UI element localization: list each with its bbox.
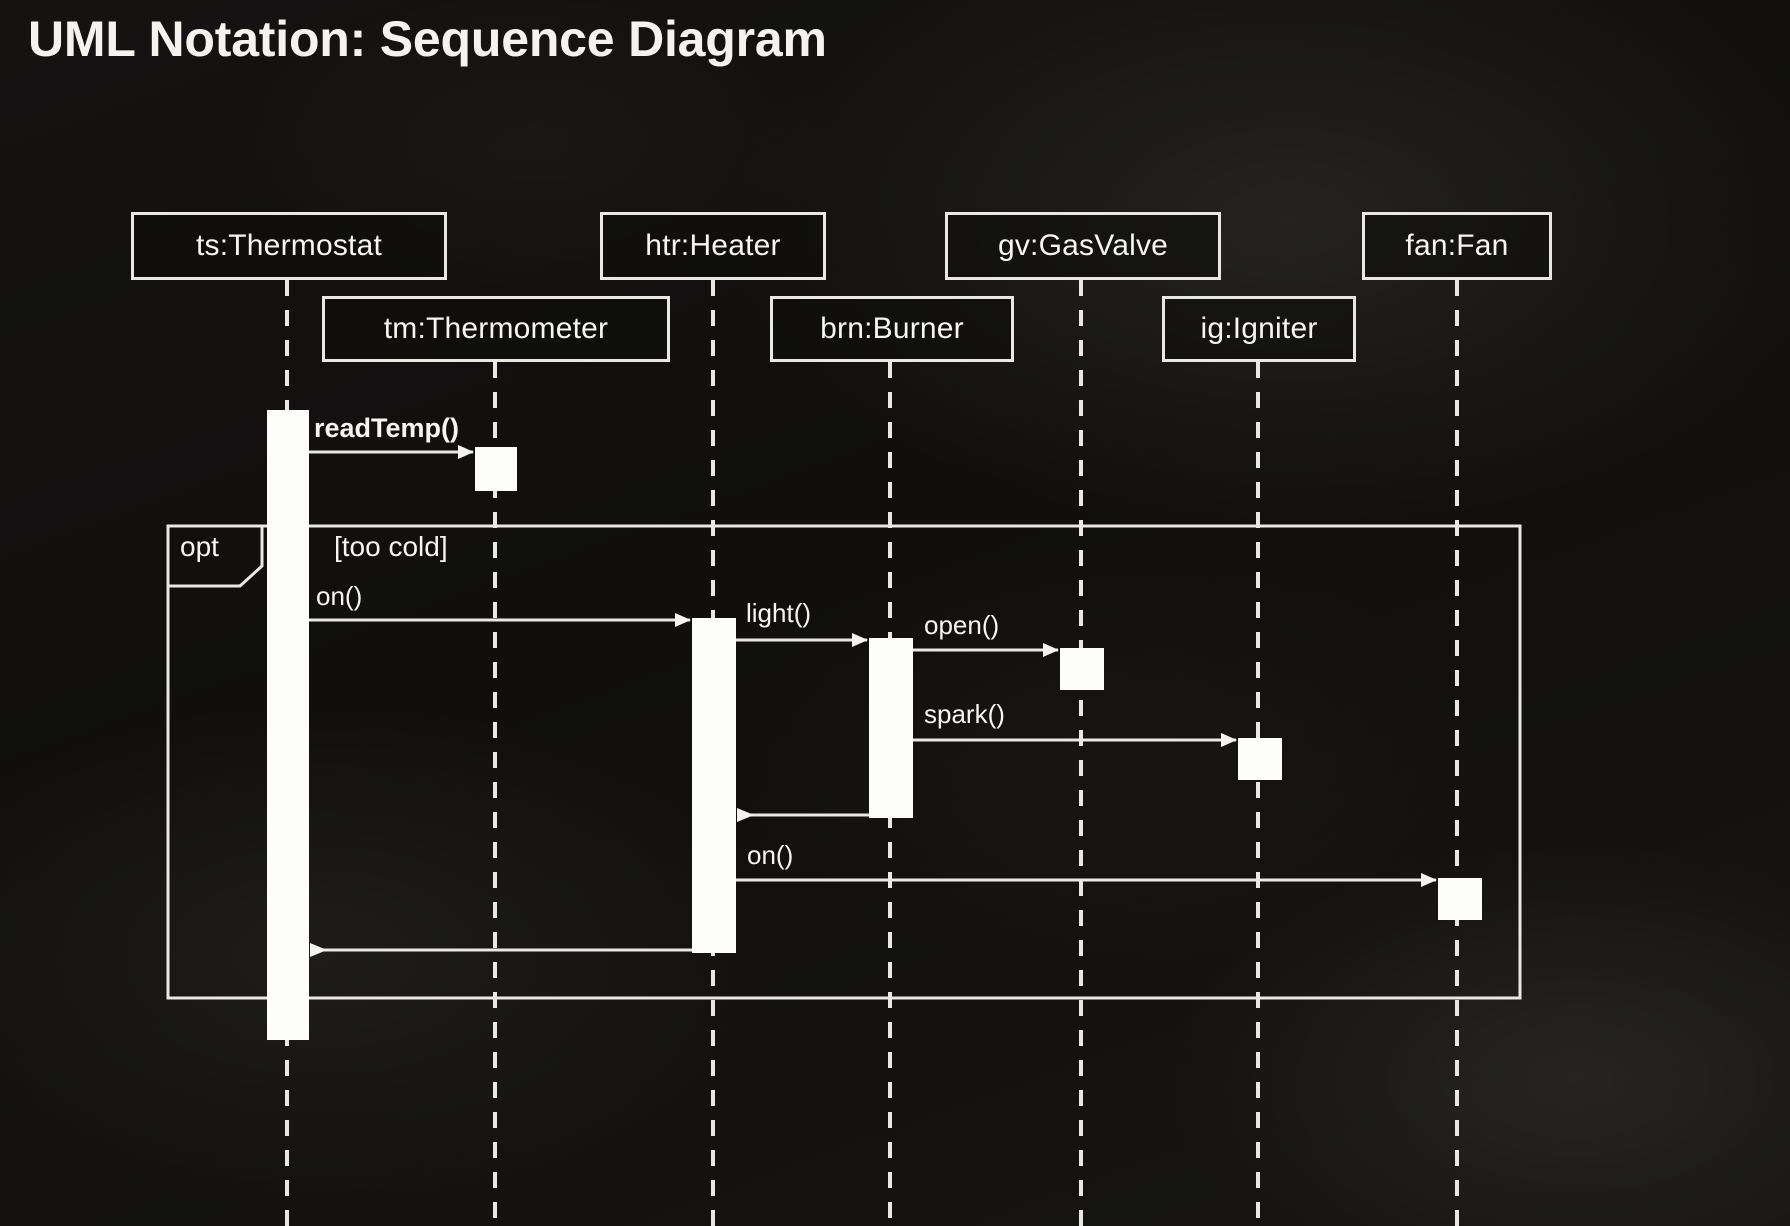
fragment-operator-label: opt — [180, 531, 219, 563]
message-label-m7: on() — [747, 840, 793, 871]
slide-canvas: UML Notation: Sequence Diagram ts:Thermo… — [0, 0, 1790, 1226]
participant-box-ts[interactable]: ts:Thermostat — [131, 212, 447, 280]
page-title: UML Notation: Sequence Diagram — [28, 10, 827, 68]
fragment-frame-group — [168, 526, 1520, 998]
message-label-m4: open() — [924, 610, 999, 641]
activation-bar-htr — [692, 618, 736, 953]
message-label-m3: light() — [746, 598, 811, 629]
fragment-guard-label: [too cold] — [334, 531, 448, 563]
participant-label-gv: gv:GasValve — [998, 229, 1168, 263]
message-label-m2: on() — [316, 581, 362, 612]
participant-box-htr[interactable]: htr:Heater — [600, 212, 826, 280]
activation-bar-brn — [869, 638, 913, 818]
message-label-m5: spark() — [924, 699, 1005, 730]
activation-bar-ig — [1238, 738, 1282, 780]
message-label-m1: readTemp() — [314, 413, 459, 444]
activation-bar-gv — [1060, 648, 1104, 690]
participant-box-brn[interactable]: brn:Burner — [770, 296, 1014, 362]
participant-label-brn: brn:Burner — [820, 312, 964, 346]
participant-label-fan: fan:Fan — [1405, 229, 1508, 263]
activation-bar-fan — [1438, 878, 1482, 920]
participant-label-tm: tm:Thermometer — [384, 312, 609, 346]
participant-label-ts: ts:Thermostat — [196, 229, 382, 263]
participant-label-ig: ig:Igniter — [1200, 312, 1317, 346]
participant-label-htr: htr:Heater — [645, 229, 780, 263]
activation-bar-tm — [475, 447, 517, 491]
participant-box-tm[interactable]: tm:Thermometer — [322, 296, 670, 362]
activation-bar-ts — [267, 410, 309, 1040]
participant-box-gv[interactable]: gv:GasValve — [945, 212, 1221, 280]
fragment-outline — [168, 526, 1520, 998]
participant-box-ig[interactable]: ig:Igniter — [1162, 296, 1356, 362]
participant-box-fan[interactable]: fan:Fan — [1362, 212, 1552, 280]
